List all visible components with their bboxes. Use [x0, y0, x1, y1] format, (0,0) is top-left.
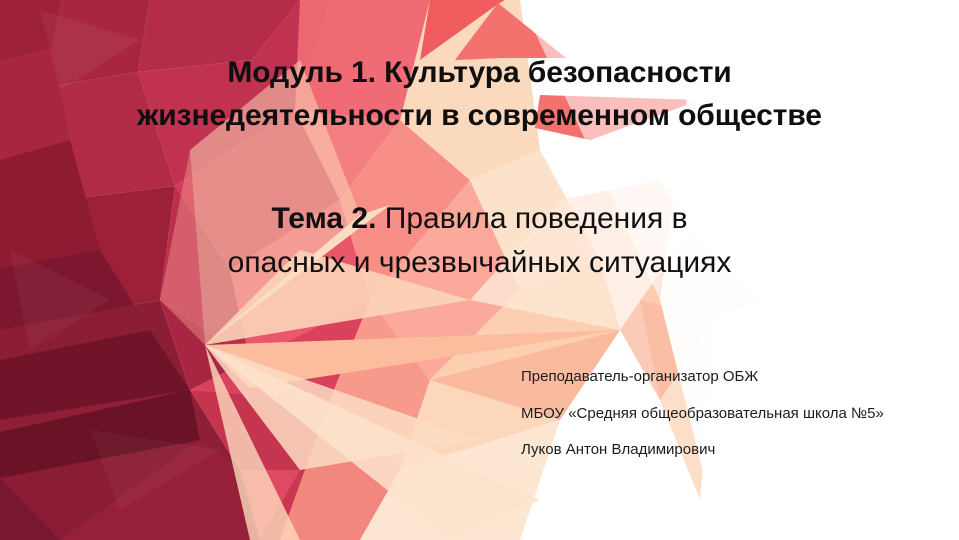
subtitle-topic-label: Тема 2.: [271, 202, 376, 235]
subtitle-line-1: Тема 2. Правила поведения в: [0, 197, 959, 241]
title-line-1: Модуль 1. Культура безопасности: [0, 52, 959, 95]
credits-block: Преподаватель-организатор ОБЖ МБОУ «Сред…: [521, 366, 941, 462]
subtitle-topic-text: Правила поведения в: [376, 202, 687, 235]
credits-organization: МБОУ «Средняя общеобразовательная школа …: [521, 403, 921, 426]
slide-title: Модуль 1. Культура безопасности жизнедея…: [0, 52, 959, 137]
presentation-slide: Модуль 1. Культура безопасности жизнедея…: [0, 0, 959, 540]
credits-author: Луков Антон Владимирович: [521, 439, 941, 462]
slide-subtitle: Тема 2. Правила поведения в опасных и чр…: [0, 197, 959, 284]
subtitle-line-2: опасных и чрезвычайных ситуациях: [0, 241, 959, 285]
title-line-2: жизнедеятельности в современном обществе: [0, 95, 959, 138]
credits-role: Преподаватель-организатор ОБЖ: [521, 366, 941, 389]
